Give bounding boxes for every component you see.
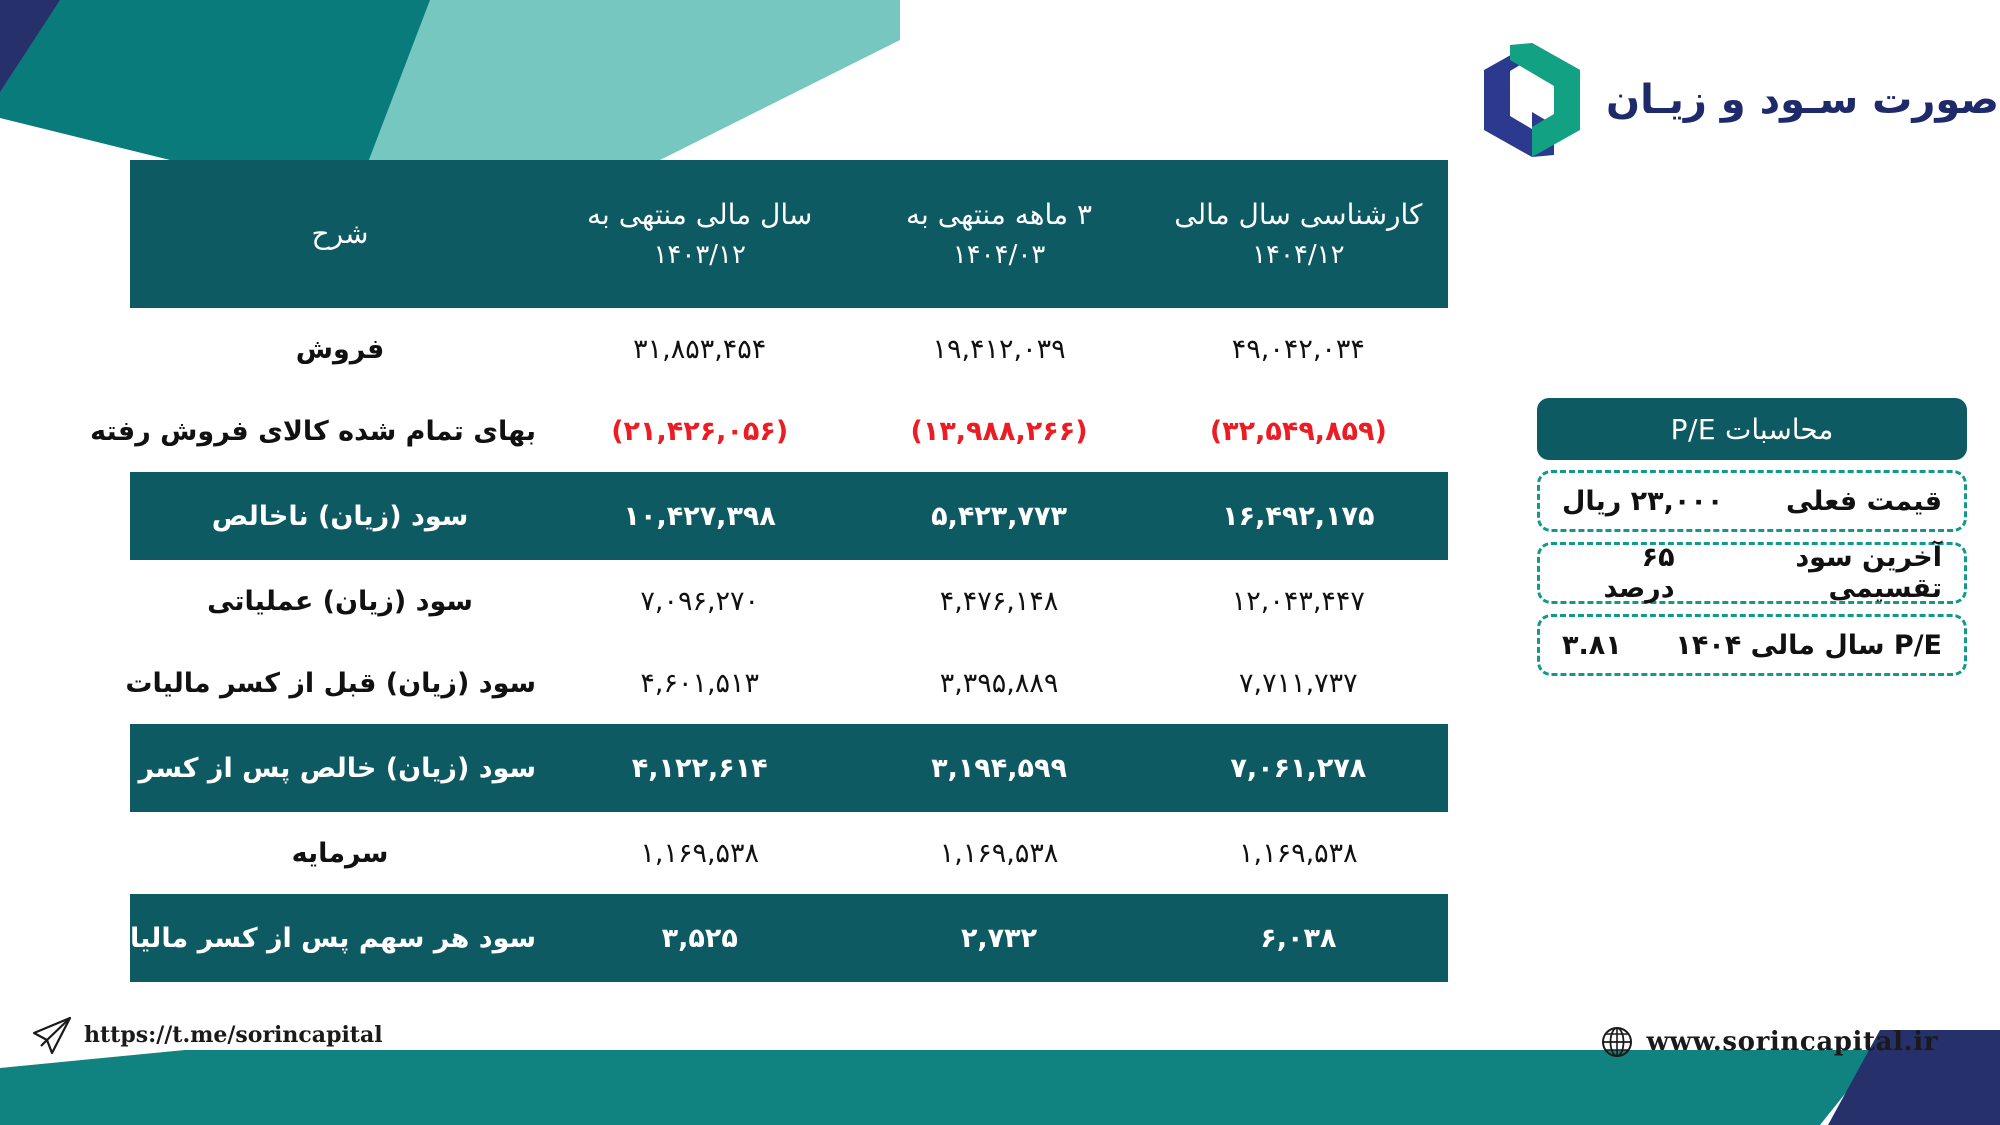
cell-description: سرمایه [130, 812, 550, 894]
table-row: ۱۲,۰۴۳,۴۴۷۴,۴۷۶,۱۴۸۷,۰۹۶,۲۷۰سود (زیان) ع… [130, 560, 1448, 642]
income-statement-table: کارشناسی سال مالی ۱۴۰۴/۱۲ ۳ ماهه منتهی ب… [130, 160, 1448, 982]
pe-label-ratio-1404: P/E سال مالی ۱۴۰۴ [1675, 630, 1942, 661]
table-row: ۷,۰۶۱,۲۷۸۳,۱۹۴,۵۹۹۴,۱۲۲,۶۱۴سود (زیان) خا… [130, 724, 1448, 812]
table-row: ۷,۷۱۱,۷۳۷۳,۳۹۵,۸۸۹۴,۶۰۱,۵۱۳سود (زیان) قب… [130, 642, 1448, 724]
globe-icon [1600, 1025, 1634, 1059]
cell-fy1403: ۷,۰۹۶,۲۷۰ [550, 560, 849, 642]
column-header-description: شرح [130, 160, 550, 308]
column-header-fy1403: سال مالی منتهی به ۱۴۰۳/۱۲ [550, 160, 849, 308]
cell-fy1403: ۱,۱۶۹,۵۳۸ [550, 812, 849, 894]
pe-calculations-panel: محاسبات P/E قیمت فعلی ۲۳,۰۰۰ ریال آخرین … [1537, 398, 1967, 676]
cell-fy1404: ۱,۱۶۹,۵۳۸ [1149, 812, 1448, 894]
cell-description: فروش [130, 308, 550, 390]
pe-value-current-price: ۲۳,۰۰۰ ریال [1562, 486, 1723, 517]
cell-fy1403: ۴,۱۲۲,۶۱۴ [550, 724, 849, 812]
column-header-q3m: ۳ ماهه منتهی به ۱۴۰۴/۰۳ [849, 160, 1148, 308]
table-row: (۳۲,۵۴۹,۸۵۹)(۱۳,۹۸۸,۲۶۶)(۲۱,۴۲۶,۰۵۶)بهای… [130, 390, 1448, 472]
cell-fy1403: ۳۱,۸۵۳,۴۵۴ [550, 308, 849, 390]
cell-q3m: ۵,۴۲۳,۷۷۳ [849, 472, 1148, 560]
cell-description: سود (زیان) قبل از کسر مالیات [130, 642, 550, 724]
column-subheader-fy1404: ۱۴۰۴/۱۲ [1159, 236, 1438, 275]
sorin-hexagon-s-logo-icon [1480, 41, 1584, 159]
cell-fy1404: ۱۶,۴۹۲,۱۷۵ [1149, 472, 1448, 560]
table-row: ۱۶,۴۹۲,۱۷۵۵,۴۲۳,۷۷۳۱۰,۴۲۷,۳۹۸سود (زیان) … [130, 472, 1448, 560]
table-body: ۴۹,۰۴۲,۰۳۴۱۹,۴۱۲,۰۳۹۳۱,۸۵۳,۴۵۴فروش(۳۲,۵۴… [130, 308, 1448, 982]
table-header: کارشناسی سال مالی ۱۴۰۴/۱۲ ۳ ماهه منتهی ب… [130, 160, 1448, 308]
footer-website-link[interactable]: www.sorincapital.ir [1600, 1025, 1938, 1059]
brand-header: صورت سـود و زیـان [1480, 40, 1960, 160]
pe-row-ratio-1404: P/E سال مالی ۱۴۰۴ ۳.۸۱ [1537, 614, 1967, 676]
pe-value-last-dividend: ۶۵ درصد [1562, 542, 1675, 604]
table-row: ۱,۱۶۹,۵۳۸۱,۱۶۹,۵۳۸۱,۱۶۹,۵۳۸سرمایه [130, 812, 1448, 894]
cell-q3m: ۱,۱۶۹,۵۳۸ [849, 812, 1148, 894]
telegram-paper-plane-icon [30, 1013, 74, 1057]
ribbon-bottom-teal [0, 1050, 1880, 1125]
cell-description: سود (زیان) عملیاتی [130, 560, 550, 642]
cell-q3m: ۲,۷۳۲ [849, 894, 1148, 982]
cell-description: سود (زیان) ناخالص [130, 472, 550, 560]
footer-telegram-link[interactable]: https://t.me/sorincapital [30, 1013, 383, 1057]
cell-q3m: ۳,۳۹۵,۸۸۹ [849, 642, 1148, 724]
cell-fy1404: ۷,۷۱۱,۷۳۷ [1149, 642, 1448, 724]
pe-row-current-price: قیمت فعلی ۲۳,۰۰۰ ریال [1537, 470, 1967, 532]
cell-fy1403: (۲۱,۴۲۶,۰۵۶) [550, 390, 849, 472]
pe-label-last-dividend: آخرین سود تقسیمی [1675, 542, 1942, 604]
cell-fy1403: ۳,۵۲۵ [550, 894, 849, 982]
cell-fy1404: ۷,۰۶۱,۲۷۸ [1149, 724, 1448, 812]
cell-q3m: ۴,۴۷۶,۱۴۸ [849, 560, 1148, 642]
table-row: ۴۹,۰۴۲,۰۳۴۱۹,۴۱۲,۰۳۹۳۱,۸۵۳,۴۵۴فروش [130, 308, 1448, 390]
table-header-row: کارشناسی سال مالی ۱۴۰۴/۱۲ ۳ ماهه منتهی ب… [130, 160, 1448, 308]
pe-label-current-price: قیمت فعلی [1786, 486, 1942, 517]
pe-row-last-dividend: آخرین سود تقسیمی ۶۵ درصد [1537, 542, 1967, 604]
cell-fy1403: ۴,۶۰۱,۵۱۳ [550, 642, 849, 724]
column-subheader-q3m: ۱۴۰۴/۰۳ [859, 236, 1138, 275]
pe-value-ratio-1404: ۳.۸۱ [1562, 630, 1622, 661]
cell-fy1404: ۱۲,۰۴۳,۴۴۷ [1149, 560, 1448, 642]
cell-q3m: (۱۳,۹۸۸,۲۶۶) [849, 390, 1148, 472]
column-header-fy1404: کارشناسی سال مالی ۱۴۰۴/۱۲ [1149, 160, 1448, 308]
cell-fy1404: ۴۹,۰۴۲,۰۳۴ [1149, 308, 1448, 390]
ribbon-navy [0, 0, 215, 112]
pe-panel-title: محاسبات P/E [1537, 398, 1967, 460]
cell-q3m: ۱۹,۴۱۲,۰۳۹ [849, 308, 1148, 390]
cell-q3m: ۳,۱۹۴,۵۹۹ [849, 724, 1148, 812]
table-row: ۶,۰۳۸۲,۷۳۲۳,۵۲۵سود هر سهم پس از کسر مالی… [130, 894, 1448, 982]
cell-description: سود هر سهم پس از کسر مالیات [130, 894, 550, 982]
column-subheader-fy1403: ۱۴۰۳/۱۲ [560, 236, 839, 275]
page-title: صورت سـود و زیـان [1606, 80, 1999, 120]
cell-description: سود (زیان) خالص پس از کسر مالیات [130, 724, 550, 812]
cell-description: بهای تمام شده کالای فروش رفته [130, 390, 550, 472]
cell-fy1403: ۱۰,۴۲۷,۳۹۸ [550, 472, 849, 560]
website-url-text: www.sorincapital.ir [1646, 1027, 1938, 1057]
telegram-url-text: https://t.me/sorincapital [84, 1022, 383, 1048]
cell-fy1404: ۶,۰۳۸ [1149, 894, 1448, 982]
cell-fy1404: (۳۲,۵۴۹,۸۵۹) [1149, 390, 1448, 472]
